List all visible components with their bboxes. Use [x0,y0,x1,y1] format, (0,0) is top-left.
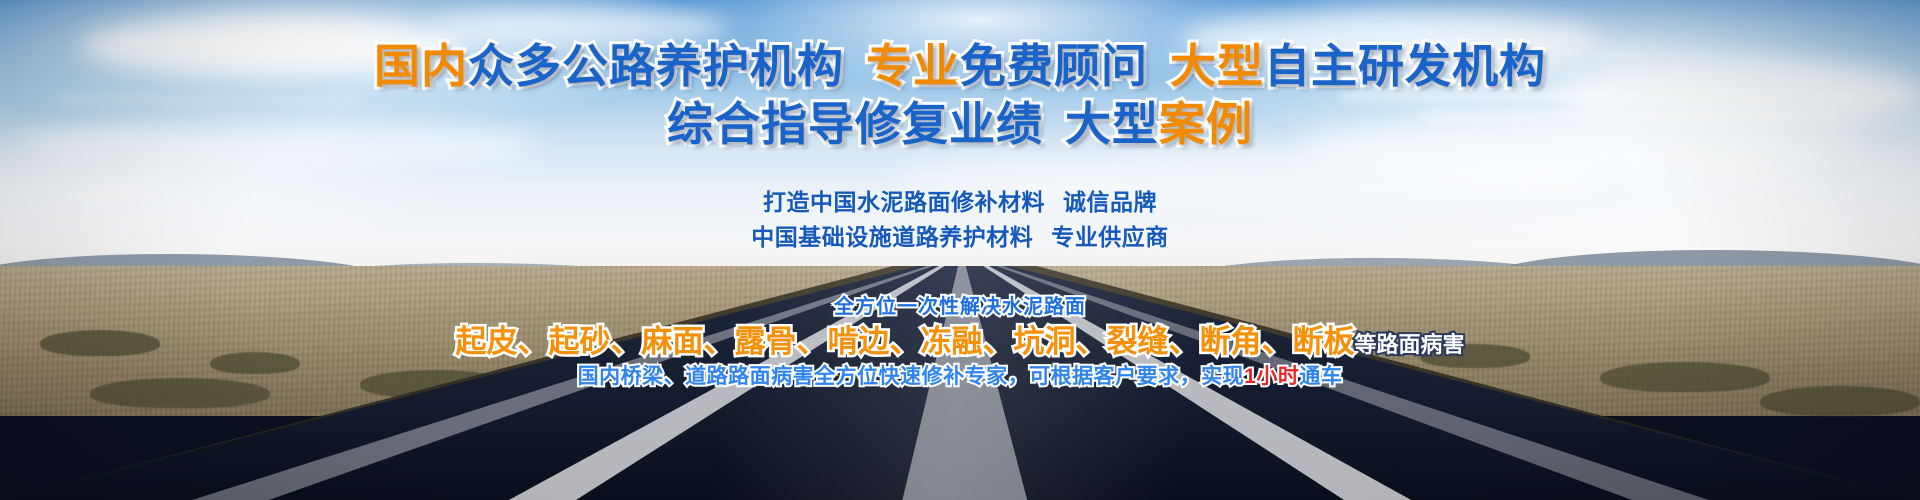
banner-content: 国内众多公路养护机构专业免费顾问大型自主研发机构 综合指导修复业绩大型案例 打造… [0,0,1920,500]
subtitle-seg-supplier: 专业供应商 [1051,224,1169,250]
promo-banner: 国内众多公路养护机构专业免费顾问大型自主研发机构 综合指导修复业绩大型案例 打造… [0,0,1920,500]
bottom-block: 全方位一次性解决水泥路面 起皮、起砂、麻面、露骨、啃边、冻融、坑洞、裂缝、断角、… [0,290,1920,392]
subtitle-seg-brand-trust: 诚信品牌 [1063,189,1157,215]
headline-seg-daxing2: 大型 [1065,98,1159,150]
bottom-line-2: 起皮、起砂、麻面、露骨、啃边、冻融、坑洞、裂缝、断角、断板等路面病害 [0,323,1920,361]
bottom-line-3: 国内桥梁、道路路面病害全方位快速修补专家，可根据客户要求，实现1小时通车 [0,361,1920,393]
claim-text-start: 国内桥梁、道路路面病害全方位快速修补专家，可根据客户要求，实现 [578,365,1245,388]
headline-line-2: 综合指导修复业绩大型案例 [0,96,1920,154]
defect-list-suffix: 等路面病害 [1354,332,1464,357]
claim-highlight-onehour: 1小时 [1244,365,1299,388]
subtitle-seg-infra-material: 中国基础设施道路养护材料 [751,224,1033,250]
subtitle-seg-brand-material: 打造中国水泥路面修补材料 [763,189,1045,215]
subtitle-block: 打造中国水泥路面修补材料诚信品牌 中国基础设施道路养护材料专业供应商 [0,185,1920,254]
bottom-line-1: 全方位一次性解决水泥路面 [0,290,1920,319]
headline-seg-zonghe: 综合指导修复业绩 [667,98,1043,150]
headline-seg-zhongduo: 众多公路养护机构 [468,40,844,92]
defect-list: 起皮、起砂、麻面、露骨、啃边、冻融、坑洞、裂缝、断角、断板 [455,324,1354,359]
headline-line-1: 国内众多公路养护机构专业免费顾问大型自主研发机构 [0,38,1920,96]
headline-seg-zhuanye: 专业 [866,40,960,92]
headline-block: 国内众多公路养护机构专业免费顾问大型自主研发机构 综合指导修复业绩大型案例 [0,38,1920,154]
subtitle-line-1: 打造中国水泥路面修补材料诚信品牌 [0,185,1920,220]
subtitle-line-2: 中国基础设施道路养护材料专业供应商 [0,220,1920,255]
claim-text-end: 通车 [1299,365,1342,388]
headline-seg-guonei: 国内 [374,40,468,92]
headline-seg-anli: 案例 [1159,98,1253,150]
headline-seg-daxing: 大型 [1170,40,1264,92]
headline-seg-mianfei: 免费顾问 [960,40,1148,92]
headline-seg-zizhu: 自主研发机构 [1264,40,1546,92]
